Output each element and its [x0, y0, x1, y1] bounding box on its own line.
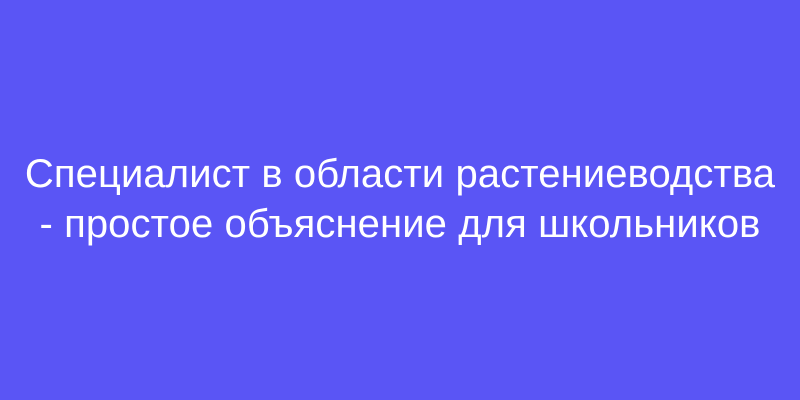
page-title-line-2: - простое объяснение для школьников	[24, 199, 776, 249]
page-title-line-1: Специалист в области растениеводства	[24, 149, 776, 199]
title-banner: Специалист в области растениеводства - п…	[0, 0, 800, 400]
page-title: Специалист в области растениеводства - п…	[0, 149, 800, 249]
